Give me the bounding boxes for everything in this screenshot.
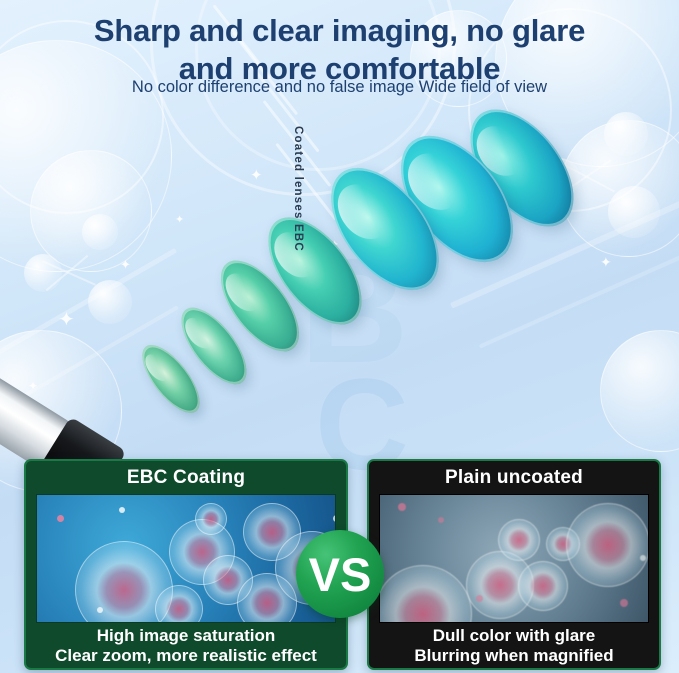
particle [476, 595, 483, 602]
headline-line-2: and more comfortable [0, 50, 679, 88]
micrograph-canvas [37, 495, 335, 622]
micrograph-uncoated [379, 494, 649, 623]
molecule-bond [46, 255, 89, 291]
particle [620, 599, 628, 607]
panel-header-uncoated: Plain uncoated [369, 461, 659, 494]
light-streak [0, 248, 177, 357]
micrograph-canvas [380, 495, 648, 622]
headline-line-1: Sharp and clear imaging, no glare [0, 12, 679, 50]
cell [498, 519, 540, 561]
caption-line-2: Clear zoom, more realistic effect [55, 646, 317, 666]
sparkle-decor: ✦ [250, 168, 263, 183]
cell [195, 503, 227, 535]
cell [379, 565, 472, 623]
bubble-decor [30, 150, 152, 272]
molecule-node [608, 186, 660, 238]
particle [57, 515, 64, 522]
light-streak [479, 255, 679, 348]
sparkle-decor: ✦ [58, 310, 75, 330]
sparkle-decor: ✦ [120, 258, 131, 271]
caption-line-1: High image saturation [97, 626, 276, 646]
vertical-caption: Coated lenses EBC [292, 126, 304, 252]
helix-rung [275, 143, 336, 220]
cell [155, 585, 203, 623]
caption-line-1: Dull color with glare [433, 626, 595, 646]
panel-caption-ebc: High image saturation Clear zoom, more r… [26, 623, 346, 668]
bubble-decor [600, 330, 679, 452]
product-feature-image: ✦ ✦ ✦ ✦ ✦ ✦ ✦ ✦ EBC B C [0, 0, 679, 673]
panel-header-ebc: EBC Coating [26, 461, 346, 494]
molecule-node [24, 254, 62, 292]
panel-caption-uncoated: Dull color with glare Blurring when magn… [369, 623, 659, 668]
particle [640, 555, 646, 561]
page-title: Sharp and clear imaging, no glare and mo… [0, 12, 679, 88]
molecule-node [82, 214, 118, 250]
particle [438, 517, 444, 523]
particle [97, 607, 103, 613]
molecule-node [88, 280, 132, 324]
micrograph-ebc [36, 494, 336, 623]
particle [119, 507, 125, 513]
sparkle-decor: ✦ [600, 255, 612, 269]
caption-line-2: Blurring when magnified [414, 646, 613, 666]
bubble-decor [560, 120, 679, 257]
particle [398, 503, 406, 511]
sparkle-decor: ✦ [28, 380, 38, 392]
molecule-node [604, 112, 648, 156]
panel-plain-uncoated[interactable]: Plain uncoated Dull color with glare Blu… [367, 459, 661, 670]
cell [518, 561, 568, 611]
vs-badge: VS [296, 530, 384, 618]
molecule-bond [42, 260, 96, 285]
sparkle-decor: ✦ [175, 215, 184, 226]
particle [333, 515, 336, 522]
cell [566, 503, 649, 587]
